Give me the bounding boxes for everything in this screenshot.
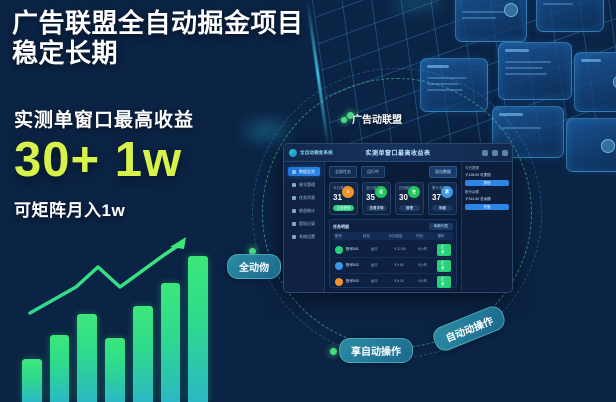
stat-badge-icon: ￥	[342, 186, 354, 198]
column-header: 时长	[416, 234, 434, 239]
row-tag: 正常	[437, 244, 451, 256]
stat-card: 今日收益31￥立即提现	[329, 182, 358, 215]
logo-mark-icon	[289, 149, 297, 157]
row-duration: 5小时	[418, 263, 434, 268]
row-tag: 正常	[437, 276, 451, 288]
panel-action-button[interactable]: 提现	[465, 180, 509, 186]
stat-card: 累计收益37累明细	[428, 182, 457, 215]
column-header: 操作	[437, 234, 451, 239]
sidebar-item-label: 提现记录	[299, 221, 315, 227]
stat-card-row: 今日收益31￥立即提现运行窗口35运查看详情在线账号30在管理累计收益37累明细	[329, 182, 457, 215]
floating-panel	[536, 0, 604, 32]
glow-accent	[392, 0, 442, 6]
dashboard-logo: 全自动掘金系统	[289, 149, 333, 157]
dashboard-titlebar: 全自动掘金系统 实测单窗口最高收益表	[284, 144, 512, 162]
table-header-bar: 任务明细 刷新列表	[333, 223, 453, 230]
floating-panel	[574, 52, 616, 112]
sidebar-item-label: 系统设置	[299, 234, 315, 240]
task-table-panel: 任务明细 刷新列表 账号状态今日收益时长操作 账号001运行￥12.506小时正…	[329, 219, 457, 288]
stat-action-button[interactable]: 明细	[432, 205, 453, 211]
headline-line-2: 稳定长期	[12, 38, 412, 68]
row-status: 运行	[371, 263, 391, 268]
dashboard-right-panel: 今日提现￥128.00 可提现提现账号余额￥312.50 总余额充值	[461, 162, 512, 292]
ring-node-dot	[330, 348, 337, 355]
ring-label-left: 全动伆	[227, 254, 281, 279]
ring-label-bottom: 享自动操作	[339, 338, 413, 363]
panel-value: ￥312.50 总余额	[465, 197, 509, 202]
sidebar-item-nav[interactable]: 收益统计	[288, 206, 320, 215]
stat-card: 运行窗口35运查看详情	[362, 182, 391, 215]
dashboard-screenshot: 全自动掘金系统 实测单窗口最高收益表 数据总览账号管理任务列表收益统计提现记录系…	[283, 143, 513, 293]
avatar	[335, 278, 343, 286]
ring-label-top-text: 广告动联盟	[352, 115, 402, 126]
table-column-headers: 账号状态今日收益时长操作	[333, 232, 453, 240]
nav-icon	[292, 170, 296, 174]
sidebar-item-label: 数据总览	[299, 169, 315, 175]
table-row[interactable]: 账号003运行￥8.204小时正常	[333, 274, 453, 290]
right-panel-block: 账号余额￥312.50 总余额充值	[465, 190, 509, 210]
row-income: ￥12.50	[393, 247, 415, 252]
column-header: 今日收益	[388, 234, 413, 239]
panel-value: ￥128.00 可提现	[465, 173, 509, 178]
floating-panel	[455, 0, 527, 42]
row-name: 账号003	[346, 279, 368, 284]
table-rows: 账号001运行￥12.506小时正常账号002运行￥9.805小时正常账号003…	[333, 242, 453, 290]
sidebar-item-label: 任务列表	[299, 195, 315, 201]
row-tag: 正常	[437, 260, 451, 272]
promo-footnote: 可矩阵月入1w	[14, 196, 125, 221]
stat-action-button[interactable]: 查看详情	[366, 205, 387, 211]
sidebar-item-nav[interactable]: 任务列表	[288, 193, 320, 202]
stat-badge-icon: 在	[408, 186, 420, 198]
gear-icon[interactable]	[492, 150, 498, 156]
growth-bar-chart	[14, 227, 214, 402]
stat-card: 在线账号30在管理	[395, 182, 424, 215]
avatar	[335, 246, 343, 254]
nav-icon	[292, 222, 296, 226]
ring-label-top: 广告动联盟	[341, 111, 402, 126]
sidebar-item-label: 账号管理	[299, 182, 315, 188]
dashboard-sidebar[interactable]: 数据总览账号管理任务列表收益统计提现记录系统设置	[284, 162, 325, 292]
row-income: ￥8.20	[393, 279, 415, 284]
row-duration: 6小时	[418, 247, 434, 252]
stat-action-button[interactable]: 管理	[399, 205, 420, 211]
avatar[interactable]	[502, 150, 508, 156]
sidebar-item-nav[interactable]: 提现记录	[288, 219, 320, 228]
filter-chip[interactable]: 全部任务	[329, 166, 357, 178]
sidebar-item-active[interactable]: 数据总览	[288, 167, 320, 176]
sidebar-item-nav[interactable]: 系统设置	[288, 232, 320, 241]
stat-badge-icon: 累	[441, 186, 453, 198]
shuffle-icon[interactable]	[482, 150, 488, 156]
nav-icon	[292, 235, 296, 239]
floating-panel	[498, 42, 572, 100]
filter-chip[interactable]: 运行中	[361, 166, 385, 178]
stat-action-button[interactable]: 立即提现	[333, 205, 354, 211]
export-button[interactable]: 导出数据	[429, 166, 457, 178]
avatar	[335, 262, 343, 270]
nav-icon	[292, 183, 296, 187]
trend-arrow	[14, 227, 214, 402]
row-duration: 4小时	[418, 279, 434, 284]
dashboard-body: 数据总览账号管理任务列表收益统计提现记录系统设置 全部任务运行中导出数据 今日收…	[284, 162, 512, 292]
sidebar-item-label: 收益统计	[299, 208, 315, 214]
floating-panel	[566, 118, 616, 172]
refresh-button[interactable]: 刷新列表	[429, 223, 453, 230]
panel-title: 账号余额	[465, 190, 509, 195]
dashboard-main: 全部任务运行中导出数据 今日收益31￥立即提现运行窗口35运查看详情在线账号30…	[325, 162, 461, 292]
headline-line-1: 广告联盟全自动掘金项目	[12, 8, 412, 38]
nav-icon	[292, 209, 296, 213]
stat-badge-icon: 运	[375, 186, 387, 198]
dashboard-toolbar[interactable]	[482, 150, 508, 156]
table-row[interactable]: 账号002运行￥9.805小时正常	[333, 258, 453, 274]
promo-banner: 广告联盟全自动掘金项目 稳定长期 实测单窗口最高收益 30+ 1w 可矩阵月入1…	[0, 0, 616, 402]
sidebar-item-nav[interactable]: 账号管理	[288, 180, 320, 189]
filter-chip-row[interactable]: 全部任务运行中导出数据	[329, 166, 457, 178]
column-header: 状态	[363, 234, 386, 239]
panel-action-button[interactable]: 充值	[465, 204, 509, 210]
row-status: 运行	[371, 247, 391, 252]
table-caption: 任务明细	[333, 224, 349, 230]
logo-text: 全自动掘金系统	[300, 150, 333, 156]
nav-icon	[292, 196, 296, 200]
row-name: 账号001	[346, 247, 368, 252]
promo-big-number: 30+ 1w	[14, 132, 182, 188]
promo-subtitle: 实测单窗口最高收益	[14, 105, 194, 132]
right-panel-block: 今日提现￥128.00 可提现提现	[465, 166, 509, 186]
row-status: 运行	[371, 279, 391, 284]
row-income: ￥9.80	[393, 263, 415, 268]
bullet-dot	[341, 117, 347, 123]
column-header: 账号	[335, 234, 360, 239]
panel-title: 今日提现	[465, 166, 509, 171]
row-name: 账号002	[346, 263, 368, 268]
headline-block: 广告联盟全自动掘金项目 稳定长期	[12, 8, 412, 68]
table-row[interactable]: 账号001运行￥12.506小时正常	[333, 242, 453, 258]
